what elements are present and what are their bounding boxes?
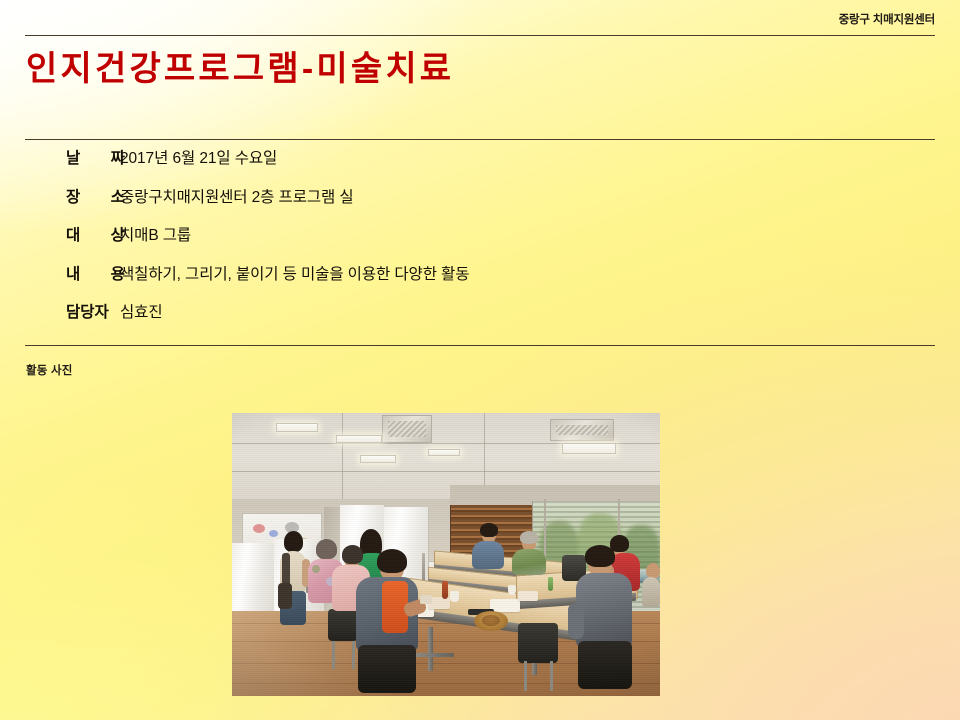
photo-chair-leg	[352, 641, 355, 669]
photo-paper	[490, 599, 520, 612]
row-value-date: 2017년 6월 21일 수요일	[120, 146, 277, 168]
photo-chair-leg	[524, 661, 527, 691]
slide-canvas: 중랑구 치매지원센터 인지건강프로그램-미술치료 날 짜 2017년 6월 21…	[0, 0, 960, 720]
photo-cup	[508, 585, 516, 595]
row-value-place: 중랑구치매지원센터 2층 프로그램 실	[120, 185, 354, 207]
photo-ceiling-vent	[550, 419, 614, 441]
organization-name: 중랑구 치매지원센터	[839, 11, 935, 27]
photo-chair-leg	[550, 661, 553, 691]
photo-ceiling-vent	[382, 415, 432, 443]
photo-ceiling-seam	[342, 413, 343, 505]
divider-bottom	[25, 345, 935, 346]
photo-chair	[328, 609, 358, 641]
row-label-staff: 담당자	[0, 300, 120, 322]
photo-bottle	[548, 577, 553, 591]
table-row: 장 소 중랑구치매지원센터 2층 프로그램 실	[0, 185, 900, 224]
photo-ceiling-seam	[484, 413, 485, 493]
divider-middle	[25, 139, 935, 140]
photo-ceiling-light	[562, 443, 616, 454]
row-label-target: 대 상	[0, 223, 120, 245]
photo-table-leg	[428, 627, 433, 671]
photo-ceiling-light	[428, 449, 460, 456]
photo-table-foot	[412, 653, 454, 657]
row-value-staff: 심효진	[120, 300, 162, 322]
photo-ceiling-light	[360, 455, 396, 463]
photo-cup	[450, 591, 459, 602]
photo-chair	[518, 623, 558, 663]
row-value-content: 색칠하기, 그리기, 붙이기 등 미술을 이용한 다양한 활동	[120, 262, 469, 284]
photo-ceiling-seam	[232, 471, 660, 472]
row-value-target: 치매B 그룹	[120, 223, 191, 245]
row-label-place: 장 소	[0, 185, 120, 207]
table-row: 날 짜 2017년 6월 21일 수요일	[0, 146, 900, 185]
photo-ceiling-light	[276, 423, 318, 432]
divider-top	[25, 35, 935, 36]
photo-section-caption: 활동 사진	[26, 362, 73, 378]
photo-chair-leg	[332, 641, 335, 669]
info-table: 날 짜 2017년 6월 21일 수요일 장 소 중랑구치매지원센터 2층 프로…	[0, 146, 900, 339]
table-row: 대 상 치매B 그룹	[0, 223, 900, 262]
slide-content: 중랑구 치매지원센터 인지건강프로그램-미술치료 날 짜 2017년 6월 21…	[0, 0, 960, 720]
photo-ceiling-light	[336, 435, 382, 443]
table-row: 담당자 심효진	[0, 300, 900, 339]
photo-hat-crown	[482, 615, 500, 626]
page-title: 인지건강프로그램-미술치료	[26, 48, 454, 91]
row-label-content: 내 용	[0, 262, 120, 284]
photo-paper	[518, 591, 538, 601]
table-row: 내 용 색칠하기, 그리기, 붙이기 등 미술을 이용한 다양한 활동	[0, 262, 900, 301]
photo-bottle	[442, 581, 448, 599]
activity-photo	[232, 413, 660, 696]
row-label-date: 날 짜	[0, 146, 120, 168]
